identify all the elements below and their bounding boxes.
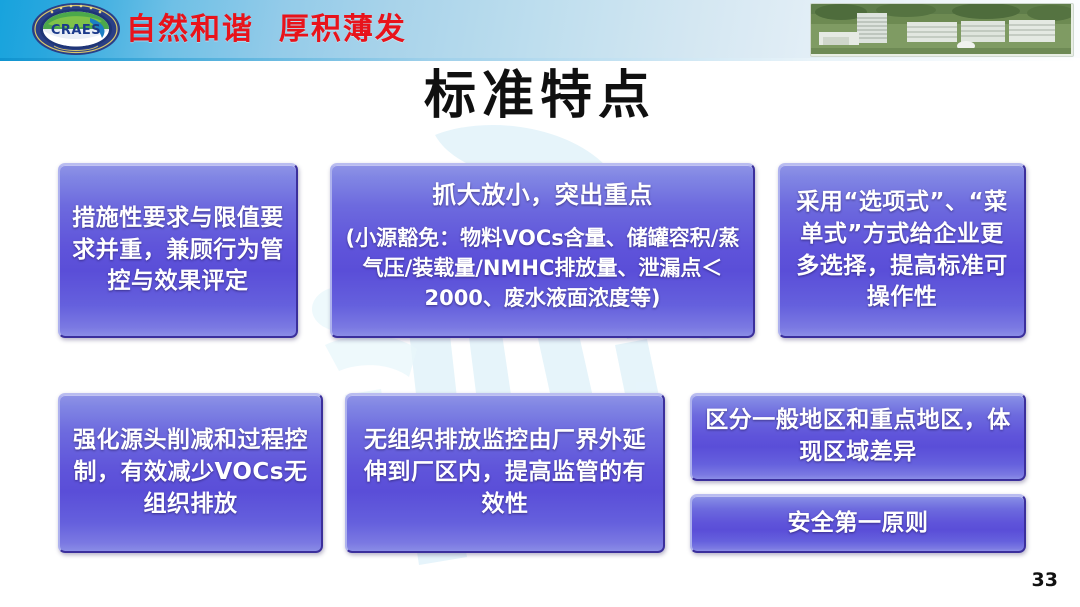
header-slogan: 自然和谐 厚积薄发 [126,8,407,52]
craes-logo-icon: CRAES [30,2,122,56]
feature-box-monitoring-extension[interactable]: 无组织排放监控由厂界外延伸到厂区内，提高监管的有效性 [345,393,665,553]
header-underline [0,58,1080,61]
campus-aerial-photo [810,3,1074,57]
feature-box-text: 措施性要求与限值要求并重，兼顾行为管控与效果评定 [70,203,286,298]
feature-box-measures-and-limits[interactable]: 措施性要求与限值要求并重，兼顾行为管控与效果评定 [58,163,298,338]
feature-box-text: 区分一般地区和重点地区，体现区域差异 [702,405,1014,468]
feature-box-heading: 抓大放小，突出重点 [432,179,653,212]
slide-canvas: CRAES 自然和谐 厚积薄发 [0,0,1080,607]
feature-box-text: 强化源头削减和过程控制，有效减少VOCs无组织排放 [70,425,311,520]
feature-box-focus-on-key-sources[interactable]: 抓大放小，突出重点 (小源豁免：物料VOCs含量、储罐容积/蒸气压/装载量/NM… [330,163,755,338]
feature-box-text: 安全第一原则 [788,508,929,540]
page-title: 标准特点 [0,64,1080,128]
feature-box-regional-differentiation[interactable]: 区分一般地区和重点地区，体现区域差异 [690,393,1026,481]
feature-box-subtext: (小源豁免：物料VOCs含量、储罐容积/蒸气压/装载量/NMHC排放量、泄漏点＜… [342,224,743,313]
feature-box-safety-first[interactable]: 安全第一原则 [690,494,1026,553]
feature-box-source-reduction[interactable]: 强化源头削减和过程控制，有效减少VOCs无组织排放 [58,393,323,553]
page-number: 33 [1032,569,1058,591]
feature-box-text: 无组织排放监控由厂界外延伸到厂区内，提高监管的有效性 [357,425,653,520]
feature-box-text: 采用“选项式”、“菜单式”方式给企业更多选择，提高标准可操作性 [790,187,1014,314]
feature-box-optional-menu-style[interactable]: 采用“选项式”、“菜单式”方式给企业更多选择，提高标准可操作性 [778,163,1026,338]
svg-text:CRAES: CRAES [51,23,101,38]
